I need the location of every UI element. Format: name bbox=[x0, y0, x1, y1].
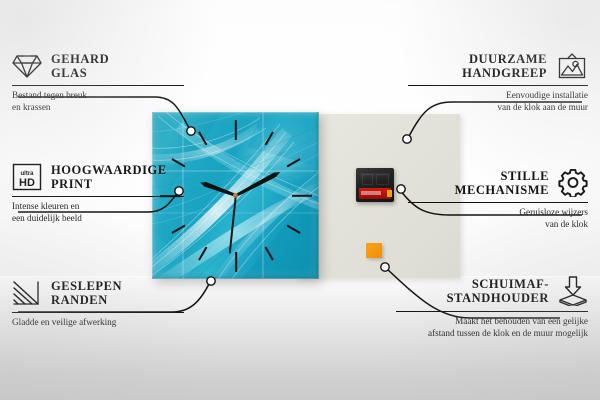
infographic-stage: GEHARD GLAS Bestand tegen breuk en krass… bbox=[0, 0, 600, 400]
clock-movement-mechanism bbox=[356, 168, 394, 202]
clock-tick-6 bbox=[234, 252, 236, 272]
feature-header: GEHARD GLAS bbox=[12, 52, 184, 80]
feature-divider bbox=[12, 312, 184, 313]
feature-description: Eenvoudige installatie van de klok aan d… bbox=[408, 90, 588, 113]
battery-terminal bbox=[387, 190, 392, 197]
feature-description: Intense kleuren en een duidelijk beeld bbox=[12, 201, 184, 224]
pane-seam-vertical-right bbox=[262, 112, 264, 279]
feature-title: GESLEPEN RANDEN bbox=[51, 279, 122, 307]
feature-stille-mechanisme[interactable]: STILLE MECHANISME Geruisloze wijzers van… bbox=[408, 168, 588, 230]
picture-frame-icon bbox=[556, 53, 588, 80]
feature-divider bbox=[408, 202, 588, 203]
feature-title: STILLE MECHANISME bbox=[455, 169, 549, 197]
feature-divider bbox=[12, 196, 184, 197]
feature-title: HOOGWAARDIGE PRINT bbox=[51, 163, 167, 191]
feature-divider bbox=[12, 85, 184, 86]
feature-geslepen-randen[interactable]: GESLEPEN RANDEN Gladde en veilige afwerk… bbox=[12, 279, 184, 329]
feature-hoogwaardige-print[interactable]: ultra HD HOOGWAARDIGE PRINT Intense kleu… bbox=[12, 163, 184, 224]
feature-title: SCHUIMAF- STANDHOUDER bbox=[447, 277, 549, 305]
feature-description: Bestand tegen breuk en krassen bbox=[12, 90, 184, 113]
feature-gehard-glas[interactable]: GEHARD GLAS Bestand tegen breuk en krass… bbox=[12, 52, 184, 113]
feature-header: GESLEPEN RANDEN bbox=[12, 279, 184, 307]
feature-title: GEHARD GLAS bbox=[51, 52, 109, 80]
press-down-pad-icon bbox=[558, 276, 588, 306]
movement-housing-detail bbox=[360, 173, 390, 186]
clock-tick-3 bbox=[292, 194, 312, 196]
feature-description: Geruisloze wijzers van de klok bbox=[408, 207, 588, 230]
clock-hand-centre-cap bbox=[233, 193, 238, 198]
feature-header: DUURZAME HANDGREEP bbox=[408, 52, 588, 80]
feature-title: DUURZAME HANDGREEP bbox=[462, 52, 547, 80]
clock-tick-12 bbox=[234, 120, 236, 140]
feature-schuimafstandhouder[interactable]: SCHUIMAF- STANDHOUDER Maakt het behouden… bbox=[396, 276, 588, 339]
ultra-hd-large-text: HD bbox=[19, 177, 35, 189]
feature-duurzame-handgreep[interactable]: DUURZAME HANDGREEP Eenvoudige installati… bbox=[408, 52, 588, 113]
feature-divider bbox=[396, 311, 588, 312]
feature-header: STILLE MECHANISME bbox=[408, 168, 588, 197]
feature-header: SCHUIMAF- STANDHOUDER bbox=[396, 276, 588, 306]
feature-divider bbox=[408, 85, 588, 86]
aa-battery bbox=[359, 188, 391, 199]
feature-description: Maakt het behouden van een gelijke afsta… bbox=[396, 316, 588, 339]
bevelled-edge-icon bbox=[12, 280, 42, 306]
battery-label bbox=[361, 191, 381, 195]
feature-header: ultra HD HOOGWAARDIGE PRINT bbox=[12, 163, 184, 191]
foam-spacer-pad bbox=[366, 243, 382, 258]
feature-description: Gladde en veilige afwerking bbox=[12, 317, 184, 329]
gear-icon bbox=[558, 168, 588, 197]
diamond-icon bbox=[12, 53, 42, 79]
ultra-hd-icon: ultra HD bbox=[12, 163, 42, 191]
